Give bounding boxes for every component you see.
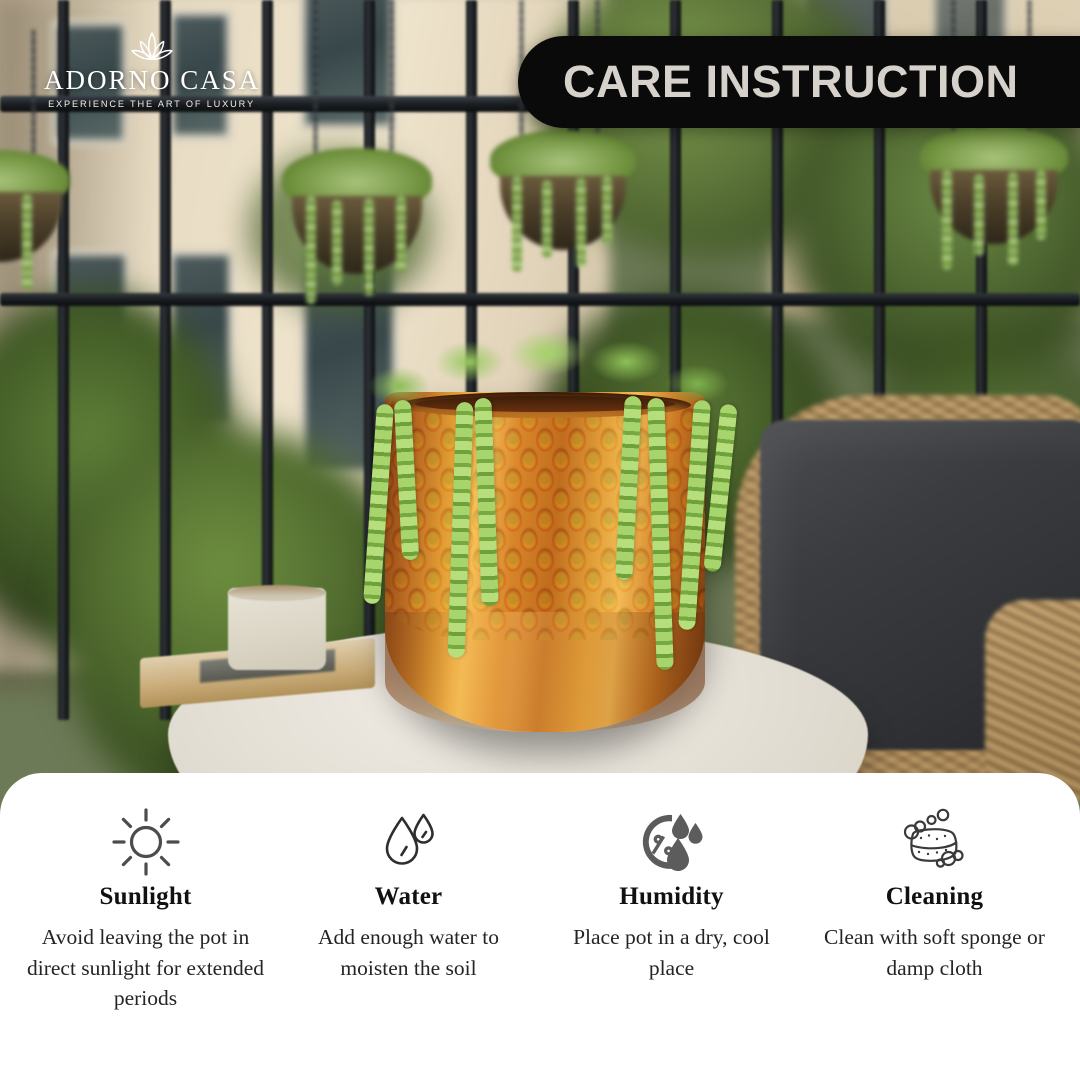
- sponge-bubbles-icon: [897, 806, 973, 878]
- brand-name: ADORNO CASA: [44, 66, 259, 94]
- care-item-cleaning: Cleaning Clean with soft sponge or damp …: [803, 803, 1066, 1080]
- care-title: Cleaning: [886, 883, 983, 911]
- care-item-humidity: Humidity Place pot in a dry, cool place: [540, 803, 803, 1080]
- sun-icon: [110, 806, 182, 878]
- brand-logo[interactable]: ADORNO CASA EXPERIENCE THE ART OF LUXURY: [44, 30, 259, 109]
- care-title: Water: [375, 883, 443, 911]
- humidity-percent-icon: [636, 806, 708, 878]
- water-drop-icon: [373, 806, 445, 878]
- cup-rim: [228, 585, 326, 601]
- lotus-flower-icon: [125, 30, 179, 64]
- care-text: Avoid leaving the pot in direct sunlight…: [26, 922, 266, 1014]
- care-text: Clean with soft sponge or damp cloth: [815, 922, 1055, 983]
- title-banner: CARE INSTRUCTION: [518, 36, 1080, 128]
- care-text: Place pot in a dry, cool place: [552, 922, 792, 983]
- care-text: Add enough water to moisten the soil: [289, 922, 529, 983]
- care-instructions-panel: Sunlight Avoid leaving the pot in direct…: [0, 773, 1080, 1080]
- care-item-sunlight: Sunlight Avoid leaving the pot in direct…: [14, 803, 277, 1080]
- care-title: Sunlight: [100, 883, 192, 911]
- care-instruction-poster: ADORNO CASA EXPERIENCE THE ART OF LUXURY…: [0, 0, 1080, 1080]
- banner-title: CARE INSTRUCTION: [563, 56, 1019, 108]
- wicker-chair-arm: [985, 600, 1080, 800]
- care-item-water: Water Add enough water to moisten the so…: [277, 803, 540, 1080]
- care-title: Humidity: [619, 883, 723, 911]
- brand-tagline: EXPERIENCE THE ART OF LUXURY: [44, 99, 259, 109]
